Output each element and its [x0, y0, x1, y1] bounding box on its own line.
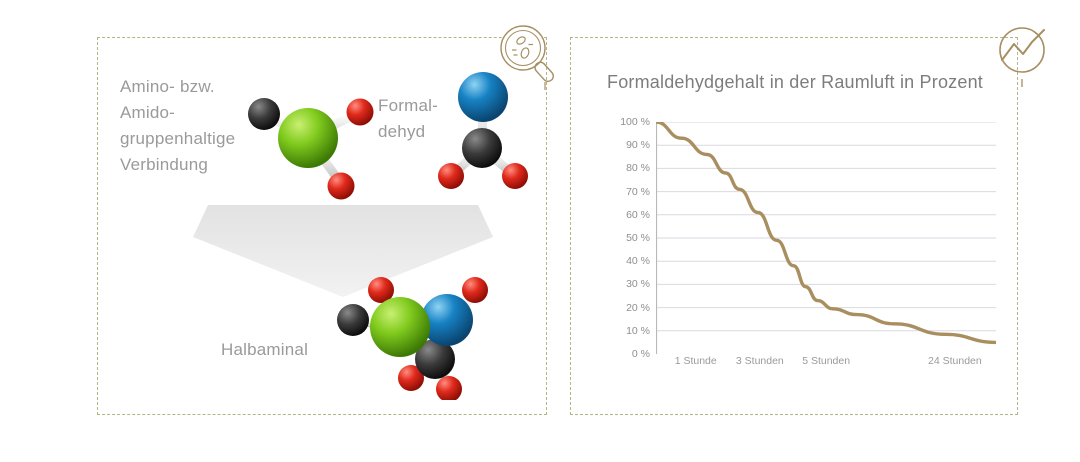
reactant-label: Amino- bzw. Amido- gruppenhaltige Verbin… — [120, 74, 235, 178]
y-axis-labels: 100 %90 %80 %70 %60 %50 %40 %30 %20 %10 … — [600, 122, 650, 367]
trend-circle-icon — [992, 22, 1062, 92]
y-axis-tick: 10 % — [604, 325, 650, 337]
y-axis-tick: 90 % — [604, 139, 650, 151]
y-axis-tick: 50 % — [604, 232, 650, 244]
x-axis-tick: 5 Stunden — [802, 355, 850, 367]
y-axis-tick: 60 % — [604, 209, 650, 221]
product-label: Halbaminal — [221, 337, 308, 363]
x-axis-tick: 24 Stunden — [928, 355, 982, 367]
x-axis-tick: 3 Stunden — [736, 355, 784, 367]
amino-compound-molecule — [236, 82, 376, 200]
y-axis-tick: 40 % — [604, 255, 650, 267]
chart-title: Formaldehydgehalt in der Raumluft in Pro… — [607, 72, 983, 93]
y-axis-tick: 20 % — [604, 302, 650, 314]
x-axis-tick: 1 Stunde — [675, 355, 717, 367]
series-line-formaldehydgehalt — [656, 122, 996, 342]
y-axis-tick: 70 % — [604, 186, 650, 198]
formaldehyde-molecule — [430, 68, 540, 190]
y-axis-tick: 100 % — [604, 116, 650, 128]
chart-plot — [656, 122, 996, 354]
y-axis-tick: 30 % — [604, 278, 650, 290]
y-axis-tick: 0 % — [604, 348, 650, 360]
slide-canvas: Amino- bzw. Amido- gruppenhaltige Verbin… — [0, 0, 1080, 462]
halbaminal-molecule — [325, 270, 510, 400]
chart-area: 100 %90 %80 %70 %60 %50 %40 %30 %20 %10 … — [600, 122, 1000, 367]
reagent-label: Formal- dehyd — [378, 93, 438, 145]
y-axis-tick: 80 % — [604, 162, 650, 174]
